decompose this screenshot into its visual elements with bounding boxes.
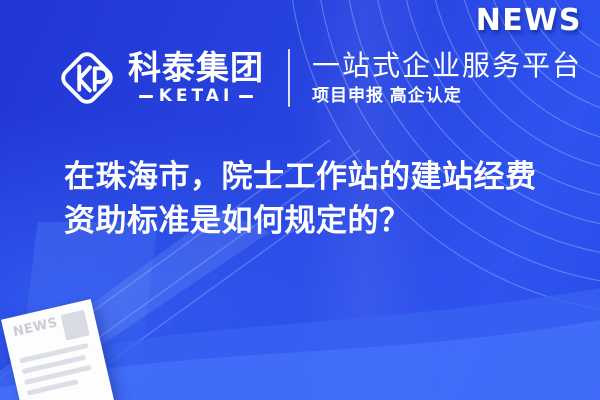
brand-wordmark: 科泰集团 KETAI [128,51,264,106]
header-divider [288,49,290,107]
newspaper-title: NEWS [12,316,59,339]
brand-name-en-row: KETAI [139,88,254,105]
news-banner: NEWS 科泰集团 [0,0,600,400]
newspaper-thumbnail [61,310,90,341]
banner-header: 科泰集团 KETAI 一站式企业服务平台 项目申报 高企认定 [56,40,560,116]
headline-line-2: 资助标准是如何规定的？ [64,199,564,243]
newspaper-text-lines [19,342,100,396]
brand-name-en: KETAI [159,88,234,105]
dash-left-icon [139,95,153,98]
brand-logo[interactable]: 科泰集团 KETAI [56,47,264,109]
brand-tagline: 一站式企业服务平台 项目申报 高企认定 [312,49,582,107]
news-badge: NEWS [476,6,582,36]
headline: 在珠海市，院士工作站的建站经费 资助标准是如何规定的？ [64,155,564,243]
brand-name-cn: 科泰集团 [128,51,264,86]
ketai-monogram-icon [56,47,118,109]
tagline-sub: 项目申报 高企认定 [312,85,582,107]
headline-line-1: 在珠海市，院士工作站的建站经费 [64,155,564,199]
dash-right-icon [239,95,253,98]
tagline-main: 一站式企业服务平台 [312,49,582,82]
